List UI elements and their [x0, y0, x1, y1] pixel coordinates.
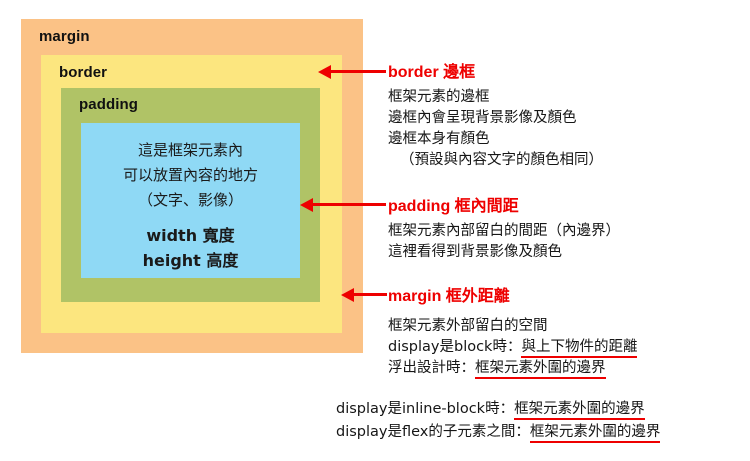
extra-line-1: display是inline-block時：框架元素外圍的邊界: [336, 398, 748, 421]
annotation-padding: padding 框內間距 框架元素內部留白的間距（內邊界） 這裡看得到背景影像及…: [388, 192, 748, 263]
padding-box-label: padding: [79, 96, 138, 113]
annotation-border-title: border 邊框: [388, 58, 748, 82]
annotation-margin: margin 框外距離 框架元素外部留白的空間 display是block時：與…: [388, 282, 748, 379]
content-line-3: （文字、影像）: [81, 188, 300, 213]
annotation-border-line-4: （預設與內容文字的顏色相同）: [388, 150, 748, 171]
annotation-border-line-2: 邊框內會呈現背景影像及顏色: [388, 108, 748, 129]
extra-display-notes: display是inline-block時：框架元素外圍的邊界 display是…: [336, 398, 748, 444]
annotation-padding-title: padding 框內間距: [388, 192, 748, 216]
arrow-left-icon-padding: [300, 198, 386, 212]
margin-box-label: margin: [39, 28, 90, 45]
content-spacer: [81, 213, 300, 223]
arrow-shaft: [351, 293, 387, 296]
extra-line-2-underlined: 框架元素外圍的邊界: [530, 424, 661, 443]
annotation-margin-line-2-underlined: 與上下物件的距離: [521, 339, 637, 358]
annotation-margin-line-3-prefix: 浮出設計時：: [388, 360, 475, 376]
annotation-margin-body: 框架元素外部留白的空間 display是block時：與上下物件的距離 浮出設計…: [388, 316, 748, 379]
content-height-label: height 高度: [81, 248, 300, 273]
annotation-margin-line-2: display是block時：與上下物件的距離: [388, 337, 748, 358]
annotation-padding-line-2: 這裡看得到背景影像及顏色: [388, 242, 748, 263]
annotation-padding-line-1: 框架元素內部留白的間距（內邊界）: [388, 221, 748, 242]
annotation-margin-line-3: 浮出設計時：框架元素外圍的邊界: [388, 358, 748, 379]
arrow-left-icon-border: [318, 65, 386, 79]
arrow-left-icon-margin: [341, 288, 387, 302]
content-width-label: width 寬度: [81, 223, 300, 248]
extra-line-1-underlined: 框架元素外圍的邊界: [514, 401, 645, 420]
extra-line-2: display是flex的子元素之間：框架元素外圍的邊界: [336, 421, 748, 444]
content-box-text: 這是框架元素內 可以放置內容的地方 （文字、影像） width 寬度 heigh…: [81, 138, 300, 273]
annotation-border: border 邊框 框架元素的邊框 邊框內會呈現背景影像及顏色 邊框本身有顏色 …: [388, 58, 748, 171]
extra-line-2-prefix: display是flex的子元素之間：: [336, 424, 530, 440]
arrow-shaft: [328, 70, 386, 73]
annotation-border-body: 框架元素的邊框 邊框內會呈現背景影像及顏色 邊框本身有顏色 （預設與內容文字的顏…: [388, 87, 748, 171]
content-line-1: 這是框架元素內: [81, 138, 300, 163]
annotation-margin-line-3-underlined: 框架元素外圍的邊界: [475, 360, 606, 379]
annotation-margin-line-2-prefix: display是block時：: [388, 339, 521, 355]
extra-line-1-prefix: display是inline-block時：: [336, 401, 514, 417]
content-line-2: 可以放置內容的地方: [81, 163, 300, 188]
annotation-border-line-3: 邊框本身有顏色: [388, 129, 748, 150]
annotation-border-line-1: 框架元素的邊框: [388, 87, 748, 108]
arrow-shaft: [310, 203, 386, 206]
box-model-diagram: margin border padding 這是框架元素內 可以放置內容的地方 …: [21, 19, 363, 353]
border-box-label: border: [59, 64, 107, 81]
annotation-padding-body: 框架元素內部留白的間距（內邊界） 這裡看得到背景影像及顏色: [388, 221, 748, 263]
annotation-margin-line-1: 框架元素外部留白的空間: [388, 316, 748, 337]
content-box-layer: 這是框架元素內 可以放置內容的地方 （文字、影像） width 寬度 heigh…: [81, 123, 300, 278]
annotation-margin-title: margin 框外距離: [388, 282, 748, 306]
